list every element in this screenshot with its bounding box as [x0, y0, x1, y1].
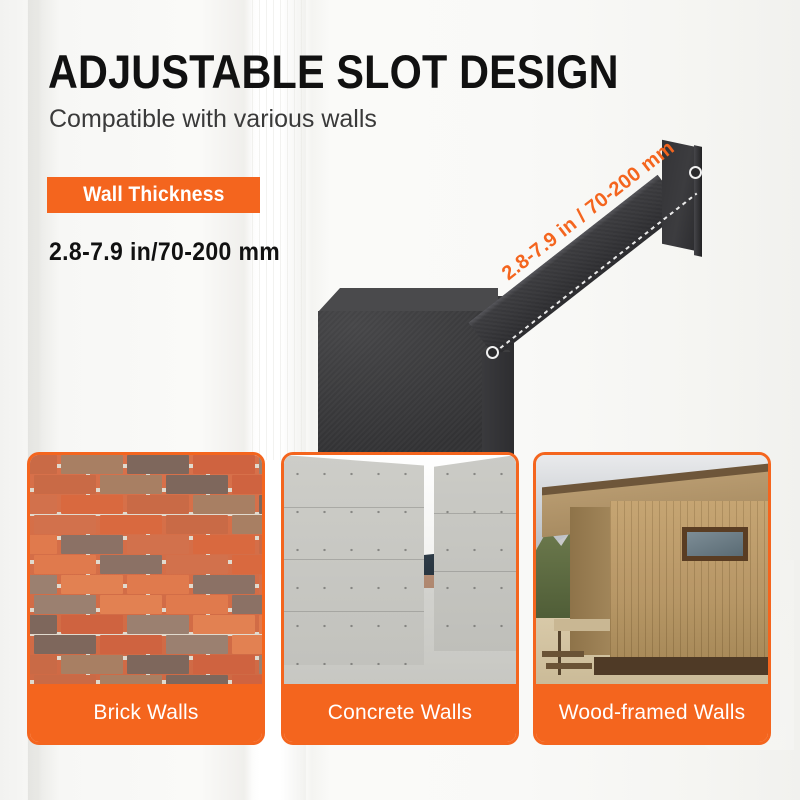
concrete-tie-holes-right: [434, 455, 516, 651]
card-caption-concrete: Concrete Walls: [284, 684, 516, 742]
product-marketing-banner: ADJUSTABLE SLOT DESIGN Compatible with v…: [0, 0, 800, 800]
measurement-endpoint-ring-icon-high: [689, 166, 702, 179]
product-illustration: 2.8-7.9 in / 70-200 mm: [0, 0, 800, 470]
mounting-arm-top-edge: [468, 175, 660, 327]
wood-wall-image: [536, 455, 768, 684]
wood-step-1: [542, 651, 584, 657]
wall-type-card-row: Brick Walls: [0, 452, 800, 748]
concrete-tie-holes-left: [284, 455, 424, 665]
card-caption-wood: Wood-framed Walls: [536, 684, 768, 742]
wood-house-window: [682, 527, 748, 561]
wall-mounting-plate-edge: [694, 145, 702, 257]
wood-foundation-trim: [594, 657, 768, 675]
wall-type-card-wood[interactable]: Wood-framed Walls: [533, 452, 771, 745]
safe-box-front-face: [318, 311, 498, 456]
brick-texture: [30, 455, 262, 684]
card-caption-brick: Brick Walls: [30, 684, 262, 742]
wall-type-card-concrete[interactable]: Concrete Walls: [281, 452, 519, 745]
safe-box-top-face: [318, 288, 498, 312]
wood-side-wall: [570, 507, 614, 655]
concrete-scene: [284, 455, 516, 684]
wood-front-wall: [610, 501, 768, 663]
concrete-wall-left: [284, 455, 424, 665]
brick-wall-image: [30, 455, 262, 684]
concrete-wall-image: [284, 455, 516, 684]
wood-step-2: [546, 663, 592, 669]
wall-type-card-brick[interactable]: Brick Walls: [27, 452, 265, 745]
concrete-wall-right: [434, 455, 516, 651]
wood-scene: [536, 455, 768, 684]
mounting-arm-lower-section: [482, 352, 512, 460]
measurement-endpoint-ring-icon-low: [486, 346, 499, 359]
